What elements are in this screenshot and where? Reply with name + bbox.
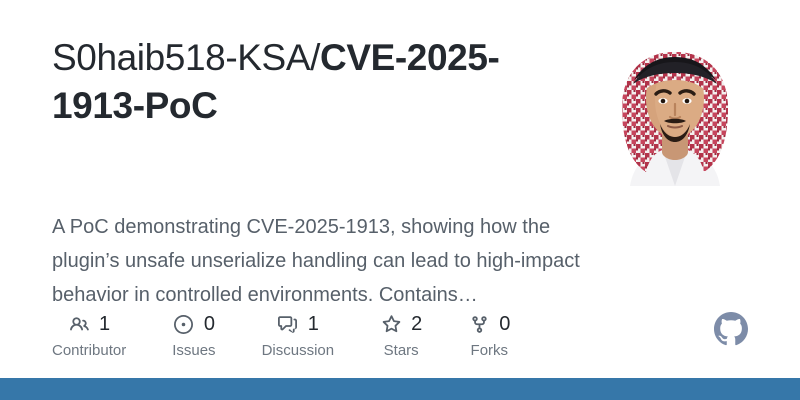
page-title: S0haib518-KSA/CVE-2025-1913-PoC — [52, 34, 572, 130]
stat-label: Stars — [384, 342, 419, 360]
card-content: S0haib518-KSA/CVE-2025-1913-PoC — [0, 0, 800, 378]
stat-discussions: 1 Discussion — [262, 312, 335, 360]
header-row: S0haib518-KSA/CVE-2025-1913-PoC — [52, 34, 754, 186]
stat-count: 0 — [204, 313, 215, 335]
stat-issues: 0 Issues — [172, 312, 215, 360]
stat-label: Forks — [471, 342, 509, 360]
star-icon — [380, 313, 402, 335]
stat-contributors: 1 Contributor — [52, 312, 126, 360]
repo-stats: 1 Contributor 0 Issues — [52, 312, 754, 360]
stat-top: 2 — [380, 312, 422, 336]
repo-path-separator: / — [310, 37, 320, 78]
github-logo-icon — [714, 312, 748, 346]
comment-discussion-icon — [277, 313, 299, 335]
stat-label: Issues — [172, 342, 215, 360]
stat-stars: 2 Stars — [380, 312, 422, 360]
stat-forks: 0 Forks — [468, 312, 510, 360]
issue-opened-icon — [173, 313, 195, 335]
stat-count: 2 — [411, 313, 422, 335]
stat-top: 0 — [173, 312, 215, 336]
repo-owner: S0haib518-KSA — [52, 37, 310, 78]
heading-column: S0haib518-KSA/CVE-2025-1913-PoC — [52, 34, 572, 130]
bottom-accent-bar — [0, 378, 800, 400]
stat-top: 1 — [68, 312, 110, 336]
stat-top: 0 — [468, 312, 510, 336]
stat-count: 0 — [499, 313, 510, 335]
stat-count: 1 — [99, 313, 110, 335]
avatar — [600, 36, 750, 186]
repo-description: A PoC demonstrating CVE-2025-1913, showi… — [52, 210, 592, 312]
people-icon — [68, 313, 90, 335]
stat-label: Discussion — [262, 342, 335, 360]
repo-forked-icon — [468, 313, 490, 335]
stat-top: 1 — [277, 312, 319, 336]
stat-label: Contributor — [52, 342, 126, 360]
repository-social-preview-card: S0haib518-KSA/CVE-2025-1913-PoC — [0, 0, 800, 400]
stat-count: 1 — [308, 313, 319, 335]
